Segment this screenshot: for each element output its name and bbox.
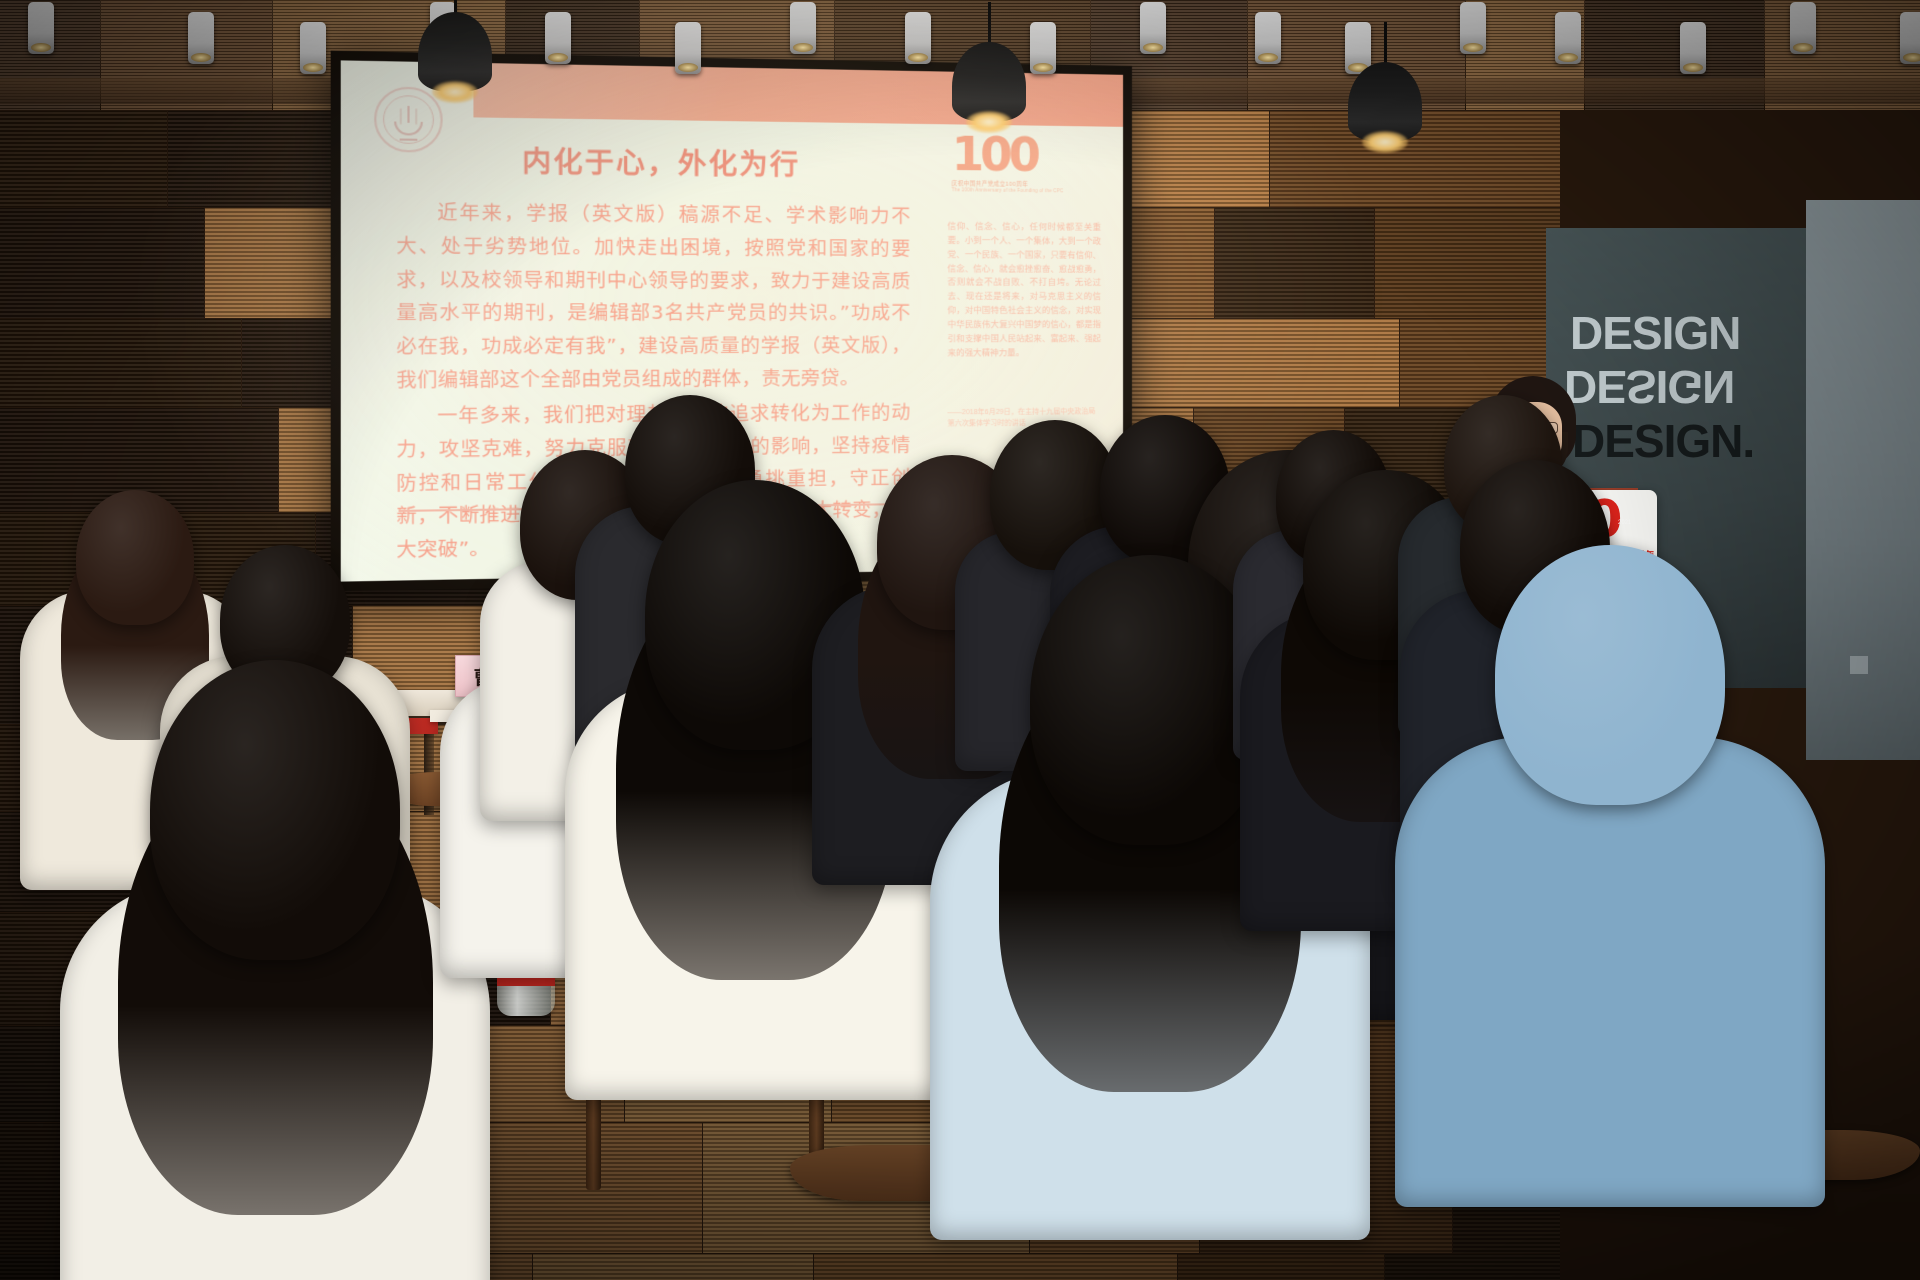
- ceiling-spotlight: [790, 2, 816, 54]
- lamp-cord: [988, 2, 991, 46]
- ceiling-spotlight: [188, 12, 214, 64]
- slide-quote-text: 信仰、信念、信心，任何时候都至关重要。小到一个人、一个集体，大到一个政党、一个民…: [947, 220, 1101, 361]
- ceiling-spotlight: [545, 12, 571, 64]
- cpc-centenary-logo-icon: 100 庆祝中国共产党成立100周年 The 100th Anniversary…: [952, 130, 1071, 186]
- ceiling-spotlight: [1790, 2, 1816, 54]
- ceiling-spotlight: [1140, 2, 1166, 54]
- lamp-shade: [952, 42, 1026, 122]
- audience-member-head: [150, 660, 400, 960]
- lamp-shade: [418, 12, 492, 92]
- slide-title: 内化于心，外化为行: [407, 138, 908, 184]
- ceiling-spotlight: [1460, 2, 1486, 54]
- audience-member: [60, 660, 490, 1280]
- pendant-lamp: [1348, 62, 1422, 144]
- cpc-logo-caption-en: The 100th Anniversary of the Founding of…: [952, 187, 1064, 193]
- wall-switch-plate: [1850, 656, 1868, 674]
- wall-slat-panel: [533, 1254, 813, 1280]
- ceiling-spotlight: [1255, 12, 1281, 64]
- pendant-lamp: [418, 12, 492, 94]
- audience-member: [1395, 545, 1825, 1275]
- design-wall-text-1: DESIGN: [1570, 306, 1740, 360]
- wall-slat-panel: [0, 319, 241, 407]
- lamp-glow: [1362, 131, 1408, 153]
- ceiling-spotlight: [1555, 12, 1581, 64]
- ceiling-spotlight: [1030, 22, 1056, 74]
- ceiling-spotlight: [1900, 12, 1920, 64]
- lamp-glow: [432, 81, 478, 103]
- wall-slat-panel: [0, 111, 167, 207]
- pendant-lamp: [952, 42, 1026, 124]
- ceiling-spotlight: [905, 12, 931, 64]
- lamp-shade: [1348, 62, 1422, 142]
- conference-photo: DESIGN DESIGN DESIGN. 内化于心，外化为行 近年来，学报（英…: [0, 0, 1920, 1280]
- audience-member-head: [1495, 545, 1725, 805]
- ceiling-spotlight: [28, 2, 54, 54]
- lamp-glow: [966, 111, 1012, 133]
- ceiling-spotlight: [300, 22, 326, 74]
- ceiling-spotlight: [675, 22, 701, 74]
- wall-slat-panel: [0, 208, 204, 318]
- wall-slat-panel: [1375, 208, 1560, 318]
- wall-slat-panel: [1215, 208, 1374, 318]
- ceiling-spotlight: [1680, 22, 1706, 74]
- slide-paragraph-1: 近年来，学报（英文版）稿源不足、学术影响力不大、处于劣势地位。加快走出困境，按照…: [396, 196, 910, 397]
- audience-member-torso: [1395, 737, 1825, 1207]
- lamp-cord: [1384, 22, 1387, 66]
- cpc-logo-number: 100: [952, 130, 1037, 178]
